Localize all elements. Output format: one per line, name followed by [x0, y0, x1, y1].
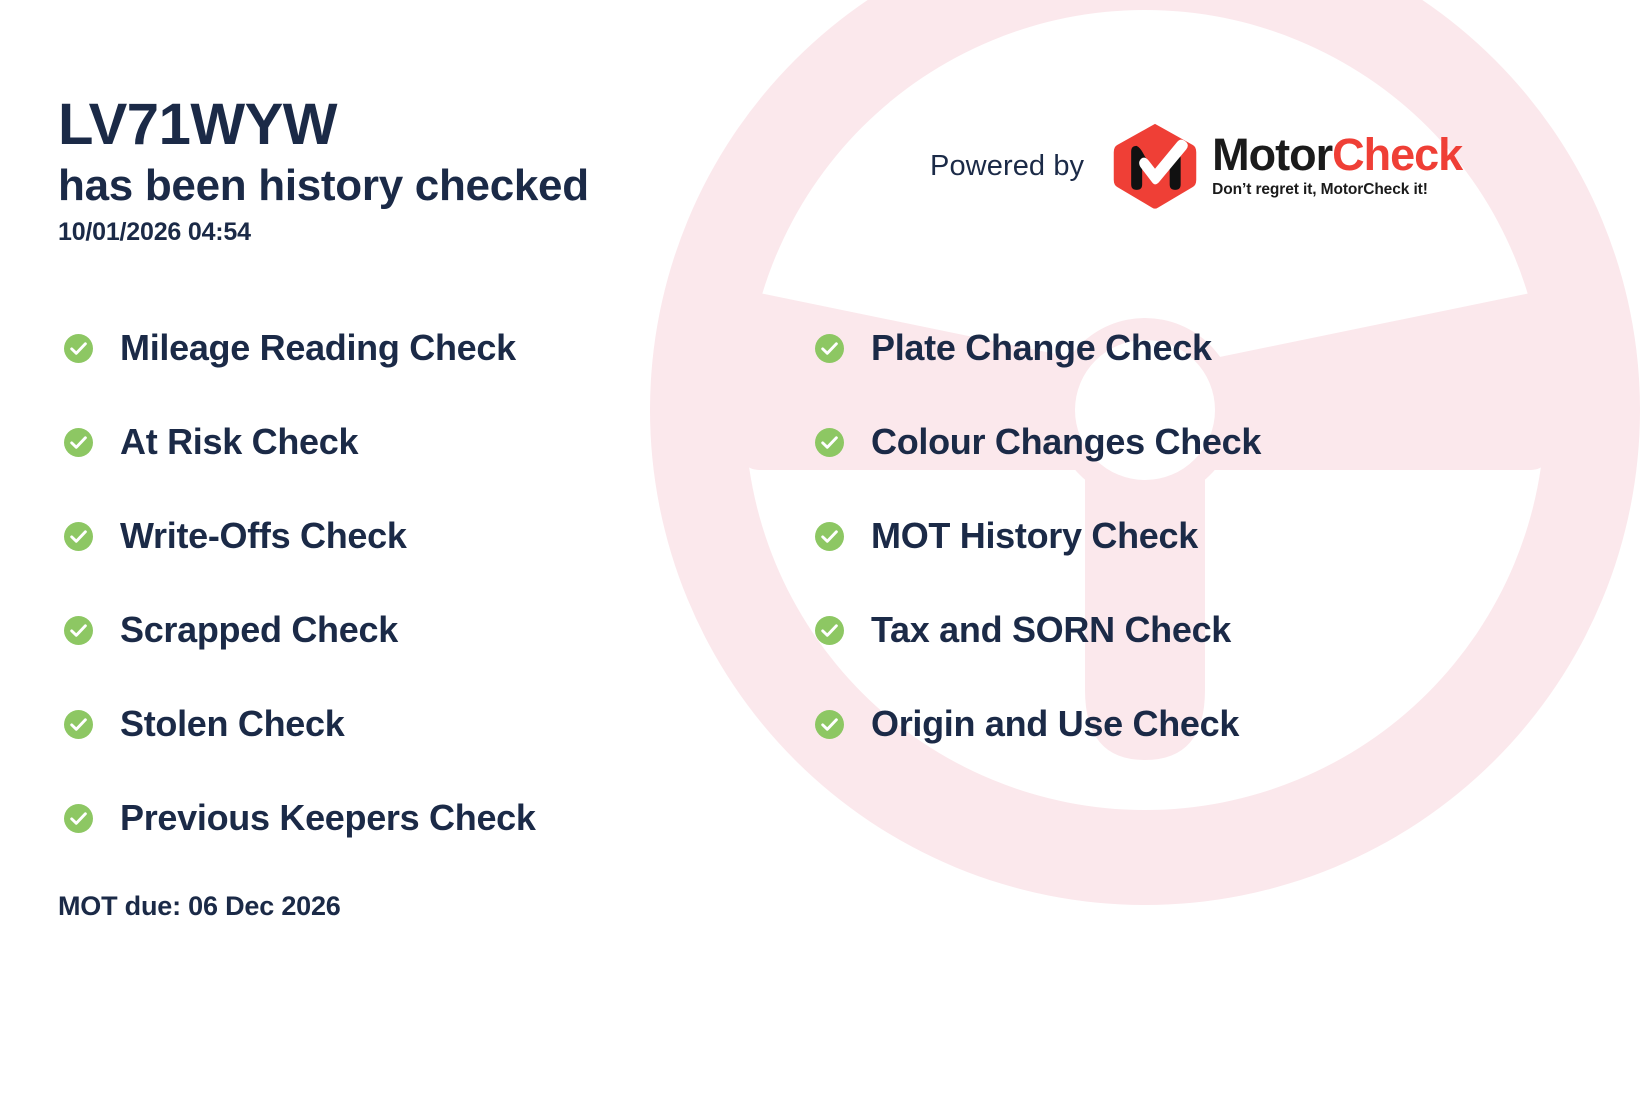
list-item: Tax and SORN Check: [815, 606, 1261, 654]
checkcard-canvas: LV71WYW has been history checked 10/01/2…: [0, 0, 1650, 1100]
check-label: Colour Changes Check: [871, 424, 1261, 460]
checks-left-column: Mileage Reading Check At Risk Check Writ…: [64, 324, 536, 888]
powered-by-block: Powered by MotorCheck Don’t regret it, M…: [930, 122, 1462, 210]
list-item: Scrapped Check: [64, 606, 536, 654]
check-label: Tax and SORN Check: [871, 612, 1231, 648]
check-circle-icon: [815, 616, 844, 645]
check-timestamp: 10/01/2026 04:54: [58, 218, 589, 247]
check-label: MOT History Check: [871, 518, 1198, 554]
motorcheck-hexagon-icon: [1108, 122, 1202, 210]
list-item: At Risk Check: [64, 418, 536, 466]
check-label: Plate Change Check: [871, 330, 1212, 366]
check-label: At Risk Check: [120, 424, 358, 460]
mot-due-text: MOT due: 06 Dec 2026: [58, 891, 341, 922]
check-circle-icon: [815, 522, 844, 551]
list-item: Origin and Use Check: [815, 700, 1261, 748]
list-item: Mileage Reading Check: [64, 324, 536, 372]
page-subtitle: has been history checked: [58, 160, 589, 212]
brand-name-second: Check: [1332, 129, 1462, 180]
list-item: Stolen Check: [64, 700, 536, 748]
list-item: Previous Keepers Check: [64, 794, 536, 842]
motorcheck-logo[interactable]: MotorCheck Don’t regret it, MotorCheck i…: [1108, 122, 1462, 210]
list-item: Write-Offs Check: [64, 512, 536, 560]
page-title-plate: LV71WYW: [58, 96, 589, 154]
check-circle-icon: [815, 334, 844, 363]
check-label: Mileage Reading Check: [120, 330, 516, 366]
motorcheck-wordmark: MotorCheck Don’t regret it, MotorCheck i…: [1212, 133, 1462, 198]
check-circle-icon: [64, 710, 93, 739]
check-circle-icon: [64, 522, 93, 551]
check-label: Previous Keepers Check: [120, 800, 536, 836]
check-label: Scrapped Check: [120, 612, 398, 648]
check-label: Stolen Check: [120, 706, 344, 742]
list-item: Plate Change Check: [815, 324, 1261, 372]
checks-right-column: Plate Change Check Colour Changes Check …: [815, 324, 1261, 794]
check-circle-icon: [815, 710, 844, 739]
list-item: Colour Changes Check: [815, 418, 1261, 466]
check-circle-icon: [64, 334, 93, 363]
header-block: LV71WYW has been history checked 10/01/2…: [58, 96, 589, 247]
check-circle-icon: [64, 804, 93, 833]
list-item: MOT History Check: [815, 512, 1261, 560]
check-circle-icon: [64, 428, 93, 457]
check-label: Origin and Use Check: [871, 706, 1239, 742]
brand-tagline: Don’t regret it, MotorCheck it!: [1212, 181, 1462, 199]
brand-name-first: Motor: [1212, 129, 1332, 180]
check-label: Write-Offs Check: [120, 518, 407, 554]
powered-by-label: Powered by: [930, 150, 1084, 183]
check-circle-icon: [815, 428, 844, 457]
check-circle-icon: [64, 616, 93, 645]
